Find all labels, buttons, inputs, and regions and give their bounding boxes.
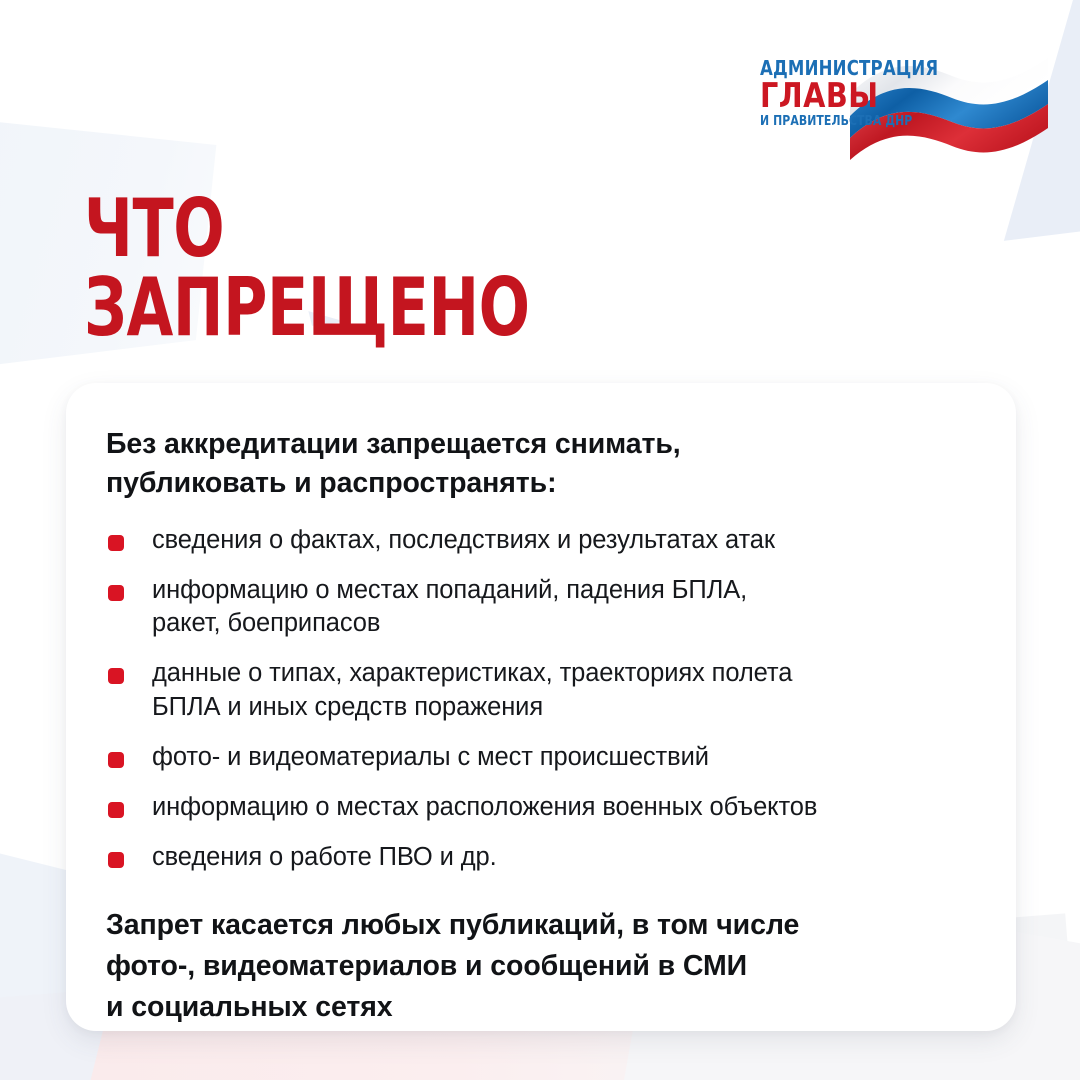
list-item-label: сведения о работе ПВО и др. <box>152 841 972 875</box>
list-item: информацию о местах расположения военных… <box>106 791 972 825</box>
list-item: информацию о местах попаданий, падения Б… <box>106 574 972 642</box>
list-item-label: сведения о фактах, последствиях и резуль… <box>152 524 972 558</box>
list-item: сведения о работе ПВО и др. <box>106 841 972 875</box>
list-item-label: фото- и видеоматериалы с мест происшеств… <box>152 741 972 775</box>
bullet-square-icon <box>108 668 124 684</box>
bullet-square-icon <box>108 752 124 768</box>
card-lead-line-1: Без аккредитации запрещается снимать, <box>106 425 972 464</box>
card-lead-line-2: публиковать и распространять: <box>106 464 972 503</box>
card-lead-paragraph: Без аккредитации запрещается снимать, пу… <box>106 425 972 504</box>
poster-root: ЧТО ЗАПРЕЩЕНО СНИМАТЬ И ПУБЛИКОВАТЬ? <box>0 0 1080 1080</box>
list-item-label: информацию о местах расположения военных… <box>152 791 972 825</box>
logo-line-government: И ПРАВИТЕЛЬСТВА ДНР <box>760 115 927 129</box>
list-item-label: данные о типах, характеристиках, траекто… <box>152 657 972 725</box>
card-closing-line-1: Запрет касается любых публикаций, в том … <box>106 905 972 946</box>
bullet-square-icon <box>108 535 124 551</box>
page-title-line-1: ЧТО ЗАПРЕЩЕНО <box>84 189 622 347</box>
list-item: сведения о фактах, последствиях и резуль… <box>106 524 972 558</box>
organization-logo-text: АДМИНИСТРАЦИЯ ГЛАВЫ И ПРАВИТЕЛЬСТВА ДНР <box>760 58 940 129</box>
list-item-label: информацию о местах попаданий, падения Б… <box>152 574 972 642</box>
prohibited-items-list: сведения о фактах, последствиях и резуль… <box>106 524 972 875</box>
card-closing-paragraph: Запрет касается любых публикаций, в том … <box>106 905 972 1028</box>
logo-line-head: ГЛАВЫ <box>760 79 929 113</box>
card-closing-line-3: и социальных сетях <box>106 987 972 1028</box>
list-item: данные о типах, характеристиках, траекто… <box>106 657 972 725</box>
bullet-square-icon <box>108 852 124 868</box>
bullet-square-icon <box>108 802 124 818</box>
card-closing-line-2: фото-, видеоматериалов и сообщений в СМИ <box>106 946 972 987</box>
organization-logo: АДМИНИСТРАЦИЯ ГЛАВЫ И ПРАВИТЕЛЬСТВА ДНР <box>752 52 1052 162</box>
content-card: Без аккредитации запрещается снимать, пу… <box>66 383 1016 1031</box>
bullet-square-icon <box>108 585 124 601</box>
list-item: фото- и видеоматериалы с мест происшеств… <box>106 741 972 775</box>
